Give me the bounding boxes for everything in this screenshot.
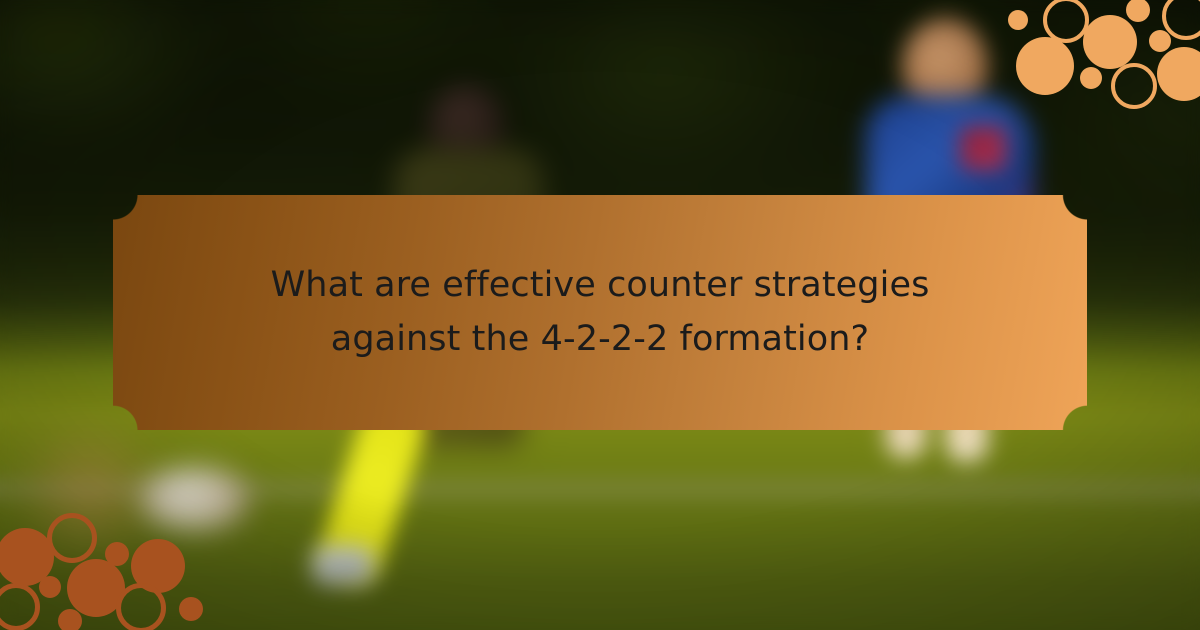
circle-cluster-top-right: [990, 0, 1200, 120]
decor-circle: [39, 576, 61, 598]
decor-circle: [1083, 15, 1137, 69]
question-card: What are effective counter strategies ag…: [113, 195, 1087, 430]
question-card-graphic: What are effective counter strategies ag…: [0, 0, 1200, 630]
decor-circle: [0, 583, 40, 630]
decor-circle: [58, 609, 82, 630]
decor-circle: [1111, 63, 1157, 109]
decor-circle: [1149, 30, 1171, 52]
decor-circle: [47, 513, 97, 563]
decor-circle: [1016, 37, 1074, 95]
decor-circle: [116, 583, 166, 630]
circle-cluster-bottom-left: [0, 510, 210, 630]
decor-circle: [179, 597, 203, 621]
decor-circle: [1008, 10, 1028, 30]
decor-circle: [1080, 67, 1102, 89]
decor-circle: [1157, 47, 1200, 101]
question-text: What are effective counter strategies ag…: [209, 259, 991, 365]
decor-circle: [1126, 0, 1150, 22]
